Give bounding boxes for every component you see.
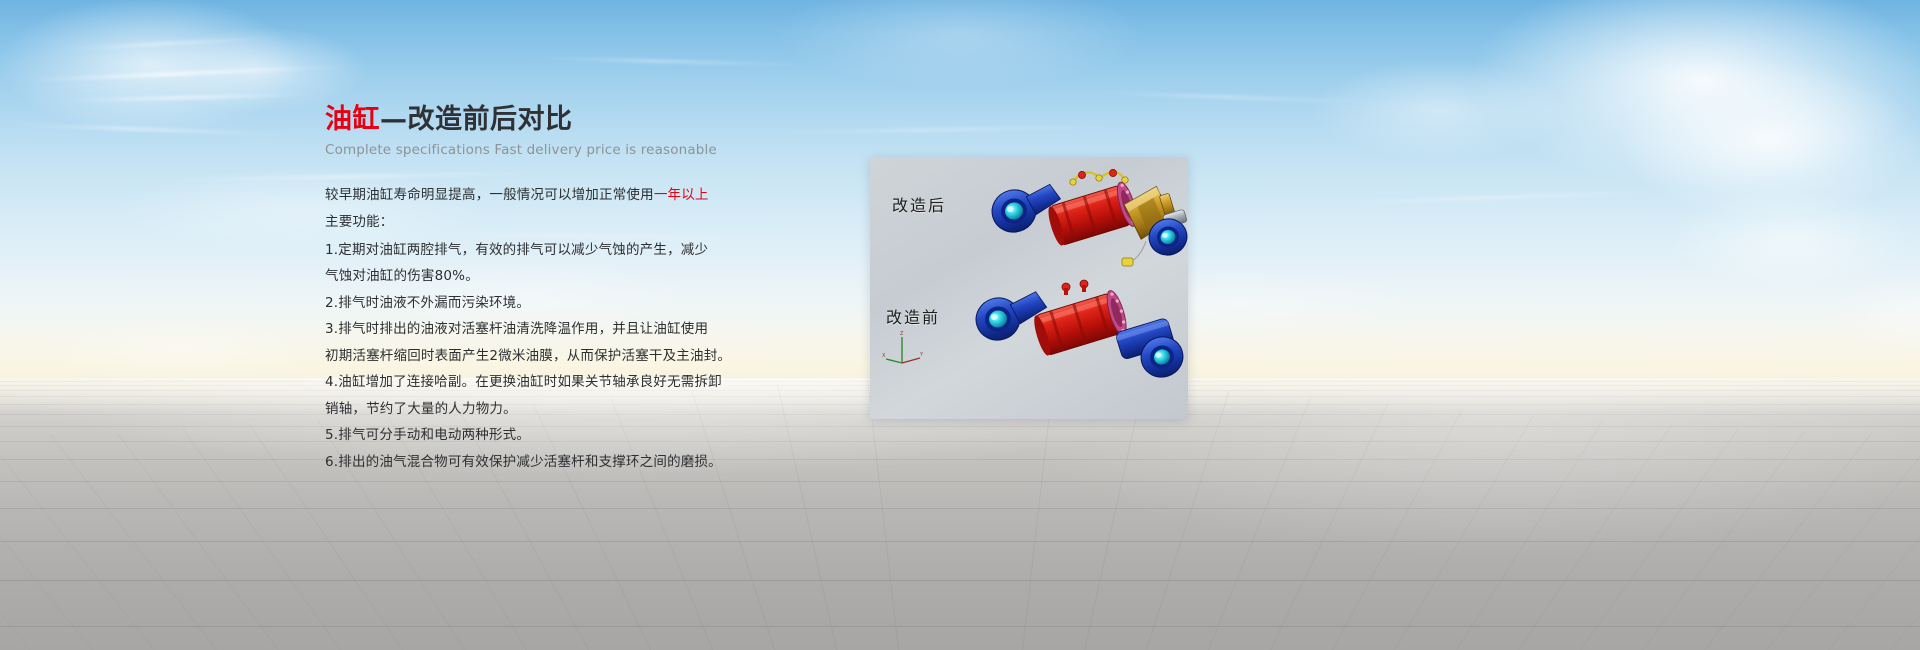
label-after-retrofit: 改造后 xyxy=(892,192,946,216)
paving-joint-horizontal xyxy=(0,441,1920,442)
feature-line: 主要功能： xyxy=(325,209,845,236)
feature-line-text: 6.排出的油气混合物可有效保护减少活塞杆和支撑环之间的磨损。 xyxy=(325,454,722,470)
svg-text:Z: Z xyxy=(900,331,904,337)
feature-line-text: 较早期油缸寿命明显提高，一般情况可以增加正常使用 xyxy=(325,187,654,203)
hero-banner: 油缸—改造前后对比 Complete specifications Fast d… xyxy=(0,0,1920,650)
banner-copy: 油缸—改造前后对比 Complete specifications Fast d… xyxy=(325,104,845,475)
feature-line-text: 主要功能： xyxy=(325,214,394,230)
paving-joint-perspective xyxy=(182,428,341,650)
feature-line-text: 气蚀对油缸的伤害80%。 xyxy=(325,268,479,284)
feature-line: 初期活塞杆缩回时表面产生2微米油膜，从而保护活塞干及主油封。 xyxy=(325,343,845,370)
feature-line-text: 4.油缸增加了连接哈副。在更换油缸时如果关节轴承良好无需拆卸 xyxy=(325,374,722,390)
label-before-retrofit: 改造前 xyxy=(886,304,940,328)
paving-joint-horizontal xyxy=(0,580,1920,581)
product-comparison-panel[interactable]: 改造后 改造前 xyxy=(870,157,1188,419)
axis-gizmo-icon: Z X Y xyxy=(882,329,926,369)
feature-line: 1.定期对油缸两腔排气，有效的排气可以减少气蚀的产生，减少 xyxy=(325,237,845,264)
feature-line: 2.排气时油液不外漏而污染环境。 xyxy=(325,290,845,317)
paving-joint-perspective xyxy=(1084,384,1144,650)
page-title: 油缸—改造前后对比 xyxy=(325,104,845,136)
paving-joint-perspective xyxy=(0,441,31,650)
hydraulic-cylinder-after-retrofit xyxy=(970,165,1188,277)
page-subtitle: Complete specifications Fast delivery pr… xyxy=(325,142,845,158)
feature-line-text: 销轴，节约了大量的人力物力。 xyxy=(325,401,517,417)
paving-joint-horizontal xyxy=(0,426,1920,427)
feature-line-accent: 一年以上 xyxy=(654,187,709,203)
feature-list: 较早期油缸寿命明显提高，一般情况可以增加正常使用一年以上主要功能：1.定期对油缸… xyxy=(325,182,845,476)
paving-joint-perspective xyxy=(867,380,899,650)
paving-joint-perspective xyxy=(1580,428,1739,650)
paving-joint-horizontal xyxy=(0,508,1920,509)
paving-joint-horizontal xyxy=(0,541,1920,542)
paving-joint-perspective xyxy=(1208,398,1311,650)
paving-joint-perspective xyxy=(1394,416,1534,650)
paving-joint-perspective xyxy=(50,434,217,650)
feature-line-text: 2.排气时油液不外漏而污染环境。 xyxy=(325,295,530,311)
feature-line-text: 初期活塞杆缩回时表面产生2微米油膜，从而保护活塞干及主油封。 xyxy=(325,348,731,364)
feature-line: 6.排出的油气混合物可有效保护减少活塞杆和支撑环之间的磨损。 xyxy=(325,449,845,476)
paving-joint-perspective xyxy=(1704,434,1871,650)
paving-joint-perspective xyxy=(1332,410,1462,650)
feature-line: 5.排气可分手动和电动两种形式。 xyxy=(325,422,845,449)
feature-line-text: 1.定期对油缸两腔排气，有效的排气可以减少气蚀的产生，减少 xyxy=(325,242,708,258)
feature-line: 气蚀对油缸的伤害80%。 xyxy=(325,263,845,290)
hydraulic-cylinder-before-retrofit xyxy=(958,277,1188,407)
title-rest: —改造前后对比 xyxy=(380,104,573,135)
feature-line: 销轴，节约了大量的人力物力。 xyxy=(325,396,845,423)
paving-joint-horizontal xyxy=(0,626,1920,627)
feature-line: 较早期油缸寿命明显提高，一般情况可以增加正常使用一年以上 xyxy=(325,182,845,209)
paving-joint-perspective xyxy=(1890,441,1920,650)
paving-joint-perspective xyxy=(1146,391,1230,650)
paving-joint-horizontal xyxy=(0,459,1920,460)
paving-joint-perspective xyxy=(1022,380,1054,650)
feature-line: 3.排气时排出的油液对活塞杆油清洗降温作用，并且让油缸使用 xyxy=(325,316,845,343)
svg-text:X: X xyxy=(882,353,886,359)
title-highlight: 油缸 xyxy=(325,104,380,135)
feature-line-text: 3.排气时排出的油液对活塞杆油清洗降温作用，并且让油缸使用 xyxy=(325,321,708,337)
paving-joint-perspective xyxy=(1456,420,1603,650)
svg-text:Y: Y xyxy=(919,352,924,358)
feature-line-text: 5.排气可分手动和电动两种形式。 xyxy=(325,427,530,443)
feature-line: 4.油缸增加了连接哈副。在更换油缸时如果关节轴承良好无需拆卸 xyxy=(325,369,845,396)
